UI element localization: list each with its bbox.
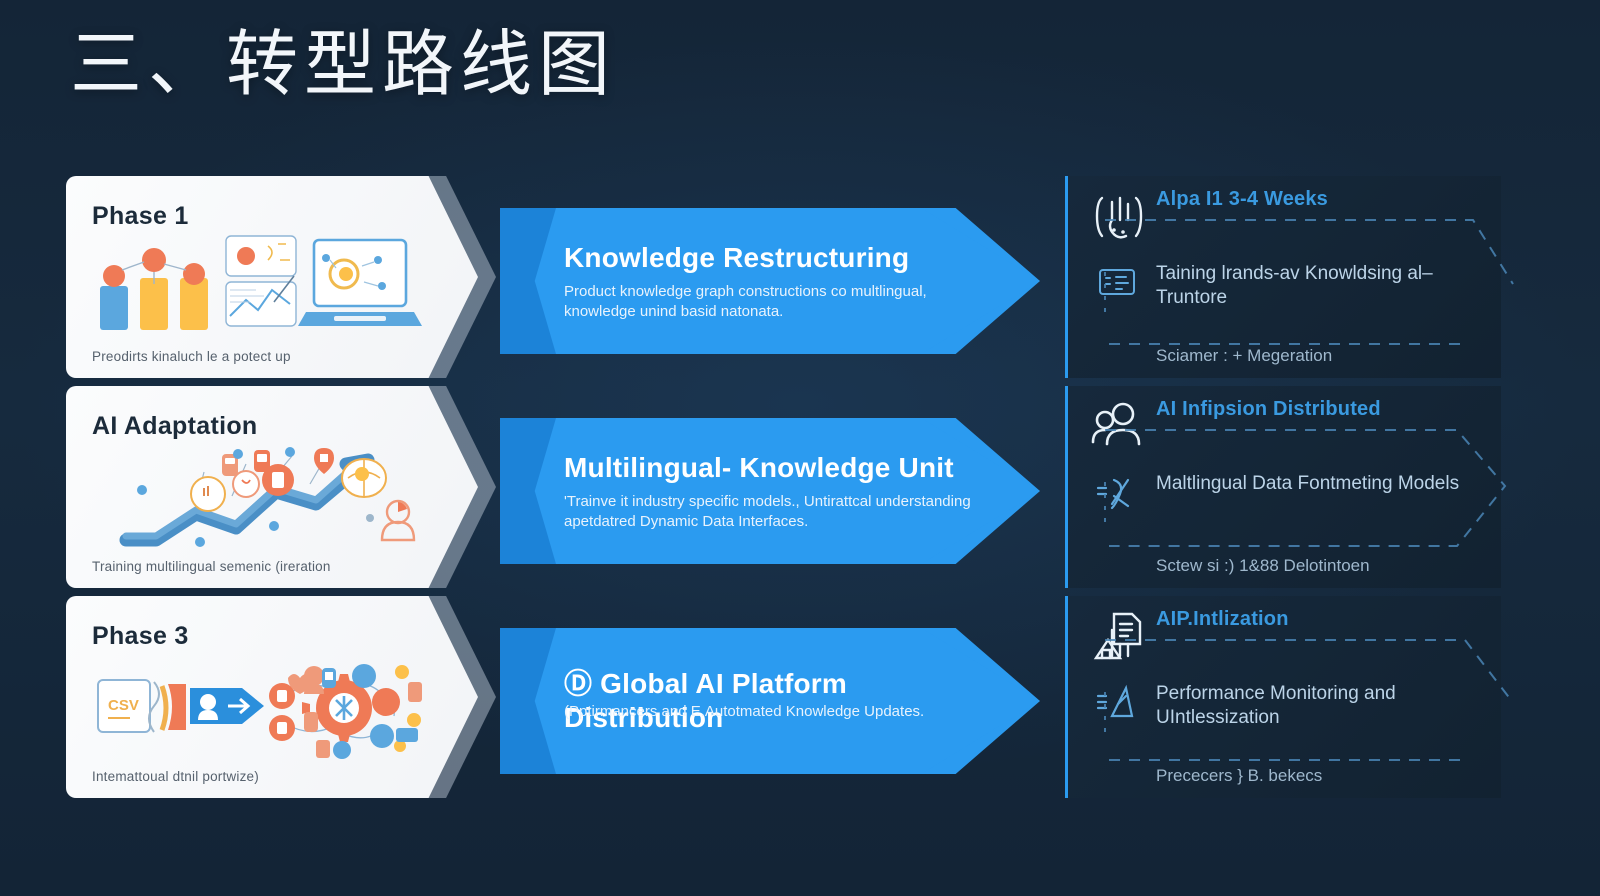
card-title: Phase 3: [92, 622, 189, 651]
phase-card[interactable]: Phase 1: [66, 176, 496, 378]
page-title: 三、转型路线图: [70, 28, 616, 100]
card-caption: Preodirts kinaluch le a potect up: [92, 349, 422, 364]
arrow-title: Knowledge Restructuring: [564, 242, 984, 274]
stage-arrow[interactable]: Knowledge Restructuring Product knowledg…: [500, 208, 1040, 354]
roadmap-row: Phase 1: [0, 176, 1600, 386]
panel-footer-text: Sciamer : + Megeration: [1156, 346, 1486, 366]
card-surface: AI Adaptation: [66, 386, 478, 588]
csv-to-user-gear-network-illustration: CSV: [96, 654, 426, 762]
panel-body-text: Performance Monitoring and UIntlessizati…: [1156, 682, 1476, 730]
panel-body-text: Maltlingual Data Fontmeting Models: [1156, 472, 1476, 496]
detail-panel[interactable]: Alpa I1 3-4 Weeks Taining lrands-av Know…: [1065, 176, 1501, 378]
roadmap-row: AI Adaptation: [0, 386, 1600, 596]
users-group-icon: [1090, 398, 1148, 456]
arrow-title: Multilingual- Knowledge Unit: [564, 452, 984, 484]
arrow-subtitle: (Pptirmancers and E.Autotmated Knowledge…: [564, 702, 994, 722]
growth-arrow-network-icons-illustration: [96, 444, 426, 552]
arrow-subtitle: 'Trainve it industry specific models., U…: [564, 492, 994, 531]
detail-panel[interactable]: AIP.Intlization Performance Monitoring a…: [1065, 596, 1501, 798]
bar-chart-nodes-laptop-illustration: [96, 234, 426, 342]
panel-heading: AIP.Intlization: [1156, 608, 1289, 631]
panel-heading: AI Infipsion Distributed: [1156, 398, 1381, 421]
phase-card[interactable]: AI Adaptation: [66, 386, 496, 588]
panel-footer-text: Sctew si :) 1&88 Delotintoen: [1156, 556, 1486, 576]
roadmap-row: Phase 3 CSV: [0, 596, 1600, 806]
id-card-icon: [1096, 264, 1138, 306]
arrow-content: Ⓓ Global AI Platform Distribution (Pptir…: [500, 628, 1040, 774]
panel-heading: Alpa I1 3-4 Weeks: [1156, 188, 1328, 211]
arrow-title: Ⓓ Global AI Platform Distribution: [564, 662, 984, 734]
phase-card[interactable]: Phase 3 CSV: [66, 596, 496, 798]
document-stand-icon: [1090, 608, 1148, 666]
card-title: AI Adaptation: [92, 412, 257, 441]
stage-arrow[interactable]: Multilingual- Knowledge Unit 'Trainve it…: [500, 418, 1040, 564]
arrow-subtitle: Product knowledge graph constructions co…: [564, 282, 994, 321]
hand-gesture-icon: [1090, 188, 1148, 246]
arrow-content: Knowledge Restructuring Product knowledg…: [500, 208, 1040, 354]
svg-text:CSV: CSV: [108, 697, 139, 714]
arrow-content: Multilingual- Knowledge Unit 'Trainve it…: [500, 418, 1040, 564]
trend-chart-icon: [1096, 684, 1138, 726]
card-caption: Intemattoual dtnil portwize): [92, 769, 422, 784]
panel-body-text: Taining lrands-av Knowldsing al–Truntore: [1156, 262, 1476, 310]
card-title: Phase 1: [92, 202, 189, 231]
stage-arrow[interactable]: Ⓓ Global AI Platform Distribution (Pptir…: [500, 628, 1040, 774]
card-caption: Training multilingual semenic (ireration: [92, 559, 422, 574]
card-surface: Phase 1: [66, 176, 478, 378]
detail-panel[interactable]: AI Infipsion Distributed Maltlingual Dat…: [1065, 386, 1501, 588]
panel-footer-text: Prececers } B. bekecs: [1156, 766, 1486, 786]
card-surface: Phase 3 CSV: [66, 596, 478, 798]
analytics-scatter-icon: [1096, 474, 1138, 516]
